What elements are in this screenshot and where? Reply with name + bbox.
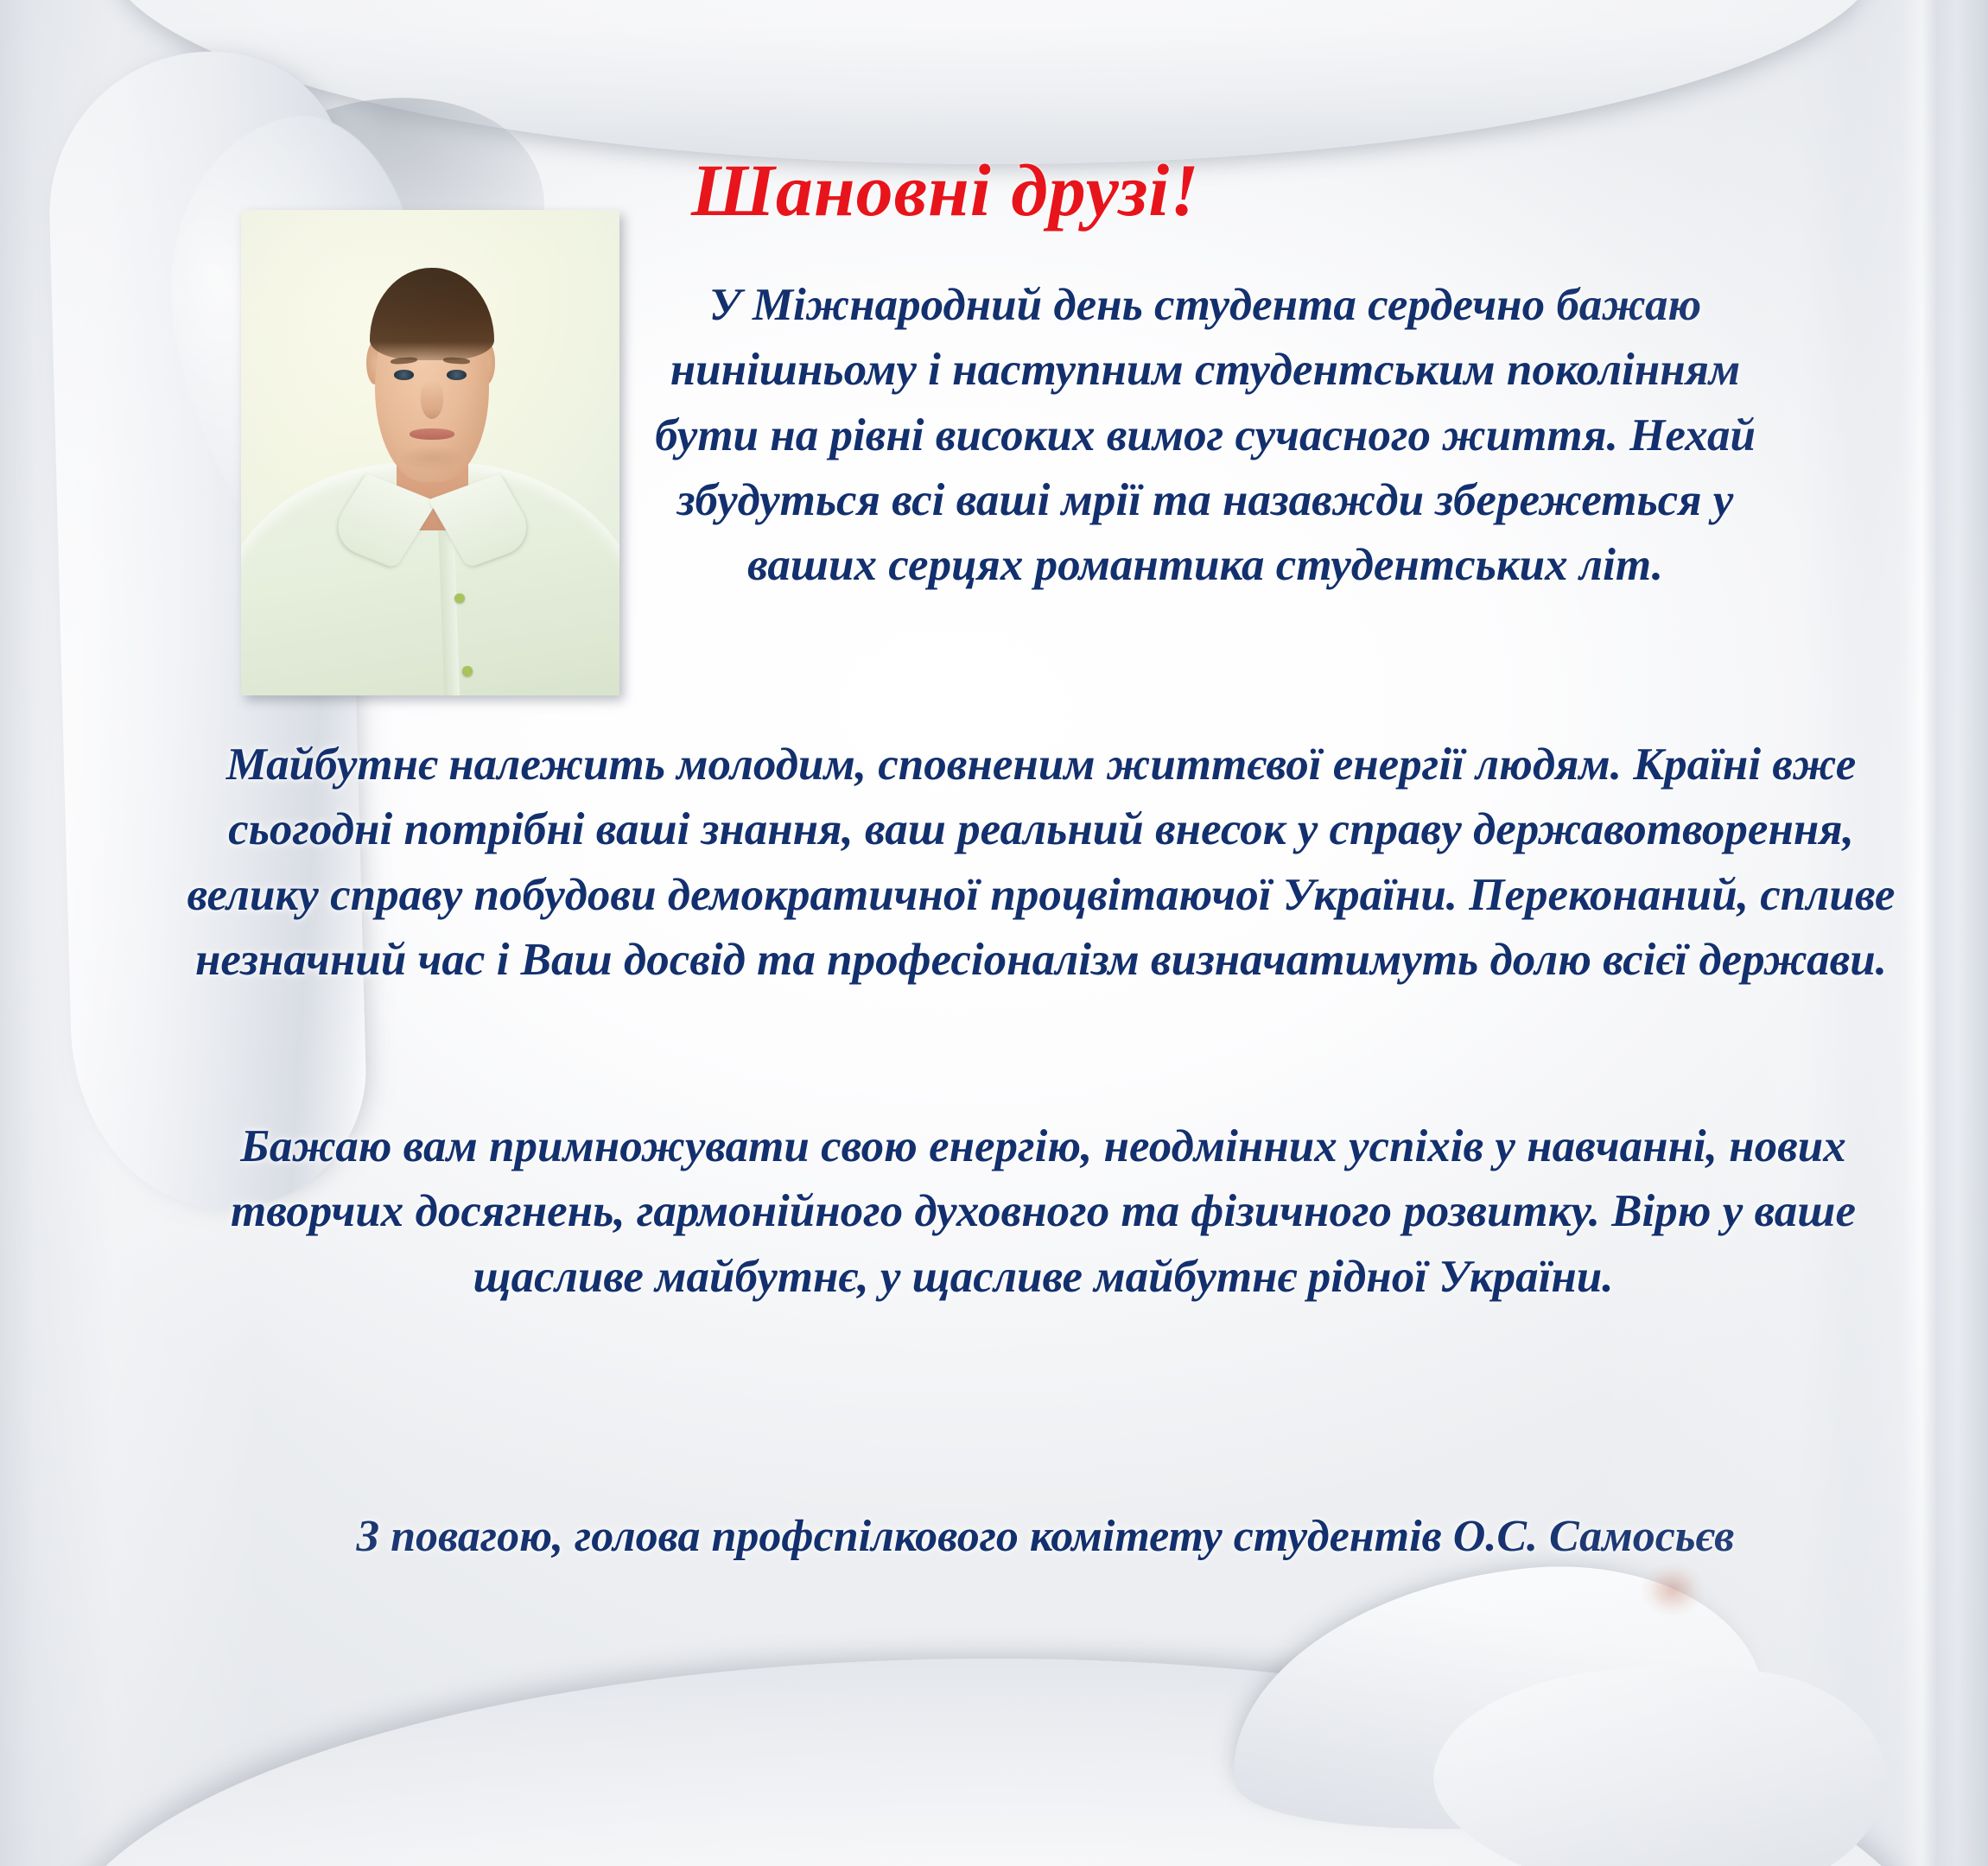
greeting-card: Шановні друзі! У Міжнародний день студен… xyxy=(0,0,1988,1866)
photo-shirt-button xyxy=(454,593,464,603)
photo-mouth xyxy=(410,428,455,440)
card-title: Шановні друзі! xyxy=(691,151,1469,229)
card-paragraph-1: У Міжнародний день студента сердечно баж… xyxy=(644,273,1767,598)
photo-eye-left xyxy=(394,370,414,379)
photo-nose xyxy=(421,380,443,419)
photo-chin-shading xyxy=(400,446,464,470)
photo-eye-right xyxy=(447,370,467,379)
card-paragraph-2: Майбутнє належить молодим, сповненим жит… xyxy=(173,733,1909,993)
card-signature: З повагою, голова профспілкового комітет… xyxy=(164,1507,1927,1566)
card-paragraph-3: Бажаю вам примножувати свою енергію, нео… xyxy=(164,1114,1922,1310)
photo-shirt-button xyxy=(462,666,472,676)
portrait-photo xyxy=(241,210,619,695)
card-content: Шановні друзі! У Міжнародний день студен… xyxy=(0,0,1988,1866)
